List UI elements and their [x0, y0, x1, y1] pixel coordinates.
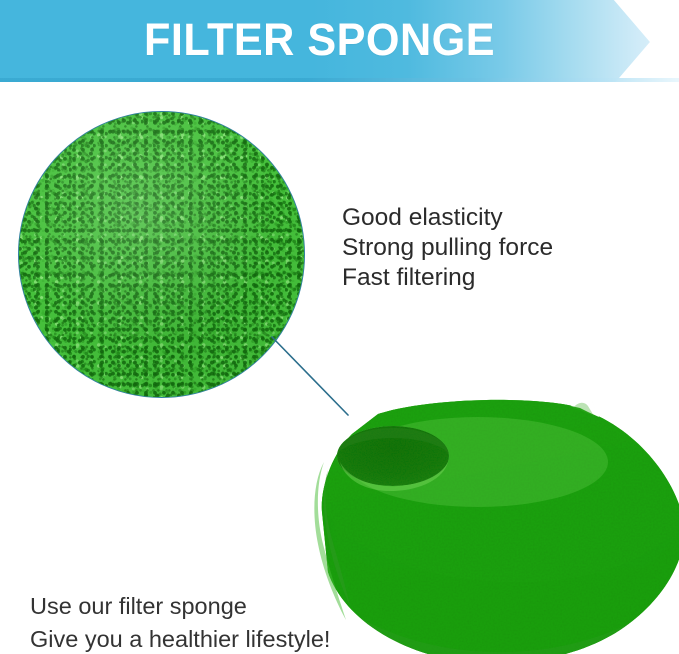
chevron-notch-shape	[607, 0, 679, 82]
page-title: FILTER SPONGE	[144, 13, 495, 67]
feature-item-1: Good elasticity	[342, 203, 553, 233]
feature-item-2: Strong pulling force	[342, 233, 553, 263]
magnified-sponge-texture-circle	[18, 111, 305, 398]
tagline-block: Use our filter sponge Give you a healthi…	[30, 590, 330, 654]
banner-underline	[0, 78, 679, 82]
tagline-line-2: Give you a healthier lifestyle!	[30, 623, 330, 654]
feature-item-3: Fast filtering	[342, 263, 553, 293]
sponge-texture-layer-2	[18, 111, 305, 398]
feature-list: Good elasticity Strong pulling force Fas…	[342, 203, 553, 293]
header-banner: FILTER SPONGE	[0, 0, 679, 82]
product-banner-page: FILTER SPONGE Good elasticity Strong pul…	[0, 0, 679, 654]
tagline-line-1: Use our filter sponge	[30, 590, 330, 623]
